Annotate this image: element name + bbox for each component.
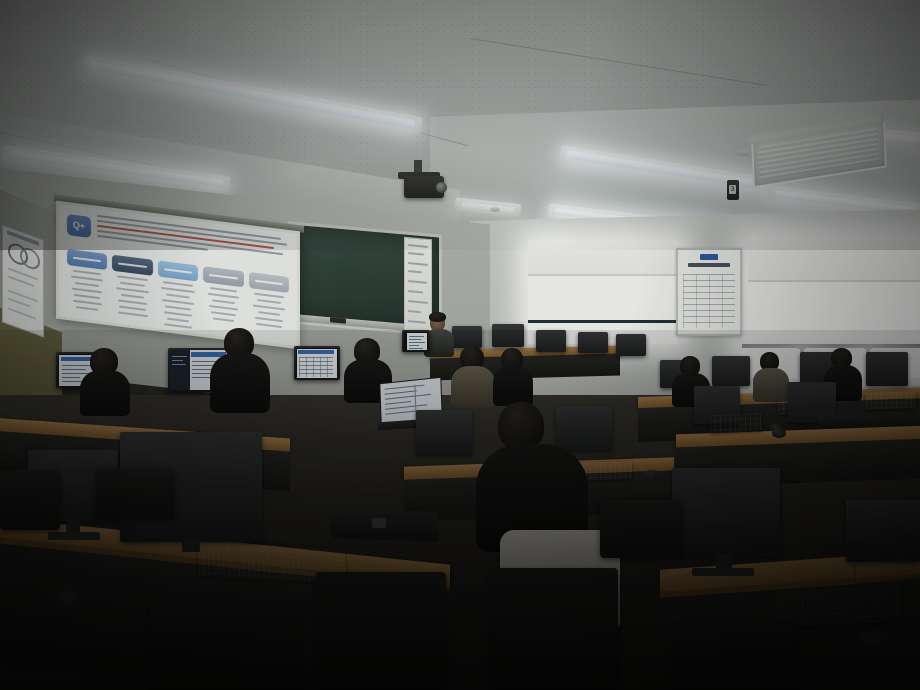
monitor: [416, 410, 472, 454]
torso: [753, 368, 789, 402]
framed-notice-board: [676, 248, 742, 336]
poster-line: [408, 320, 426, 324]
mouse-foreground-right[interactable]: [858, 630, 892, 652]
notice-header-band: [700, 254, 718, 260]
ceiling-shadow-overlay: [0, 0, 920, 250]
slide-column: [67, 249, 107, 322]
poster-line: [408, 270, 422, 273]
poster-line: [408, 300, 428, 304]
monitor-front-instructor: [402, 330, 430, 352]
monitor: [492, 324, 524, 347]
poster-line: [408, 252, 424, 255]
notice-title: [688, 263, 730, 267]
torso: [493, 366, 533, 406]
torso: [210, 353, 270, 413]
monitor: [866, 352, 908, 386]
chair[interactable]: [0, 470, 60, 530]
monitor-base: [48, 532, 100, 540]
monitor: [556, 406, 612, 450]
poster-line: [8, 308, 36, 320]
notice-table: [683, 274, 735, 328]
slide-column: [249, 272, 289, 345]
monitor: [452, 326, 482, 348]
chair[interactable]: [490, 568, 618, 690]
poster-line: [408, 310, 421, 313]
chair[interactable]: [676, 620, 796, 690]
chair[interactable]: [150, 600, 300, 690]
mouse[interactable]: [644, 470, 660, 481]
classroom-photo: 3: [0, 0, 920, 690]
monitor: [578, 332, 608, 353]
column-header: [158, 260, 198, 281]
window-frame-rail: [528, 320, 678, 323]
poster-line: [8, 298, 30, 308]
monitor: [616, 334, 646, 356]
monitor-center-spreadsheet: [294, 346, 340, 380]
poster-line: [408, 290, 423, 293]
column-header: [67, 249, 107, 270]
poster-line: [408, 262, 428, 266]
chair[interactable]: [600, 500, 682, 558]
screen-table-grid: [299, 357, 333, 377]
monitor-base: [692, 568, 754, 576]
monitor-foreground-right: [672, 468, 780, 556]
column-header: [203, 266, 243, 287]
torso: [451, 366, 495, 408]
screen-header-bar: [298, 350, 334, 354]
poster-line: [408, 280, 427, 284]
keyboard[interactable]: [710, 413, 762, 434]
monitor: [712, 356, 750, 386]
mouse[interactable]: [772, 428, 786, 438]
keyboard[interactable]: [866, 391, 916, 410]
torso: [80, 370, 130, 416]
monitor-screen: [404, 332, 428, 350]
slide-column: [158, 260, 198, 333]
wall-poster-beside-board: [404, 237, 432, 334]
monitor-screen: [296, 348, 338, 378]
chair[interactable]: [316, 572, 446, 690]
monitor: [536, 330, 566, 352]
chair[interactable]: [96, 468, 174, 518]
hair: [429, 312, 446, 322]
head: [498, 402, 544, 450]
column-header: [112, 255, 152, 276]
mouse-foreground[interactable]: [54, 590, 88, 612]
column-header: [249, 272, 289, 293]
laptop-trackpad: [372, 518, 387, 529]
monitor: [846, 500, 920, 562]
slide-column: [112, 255, 152, 328]
